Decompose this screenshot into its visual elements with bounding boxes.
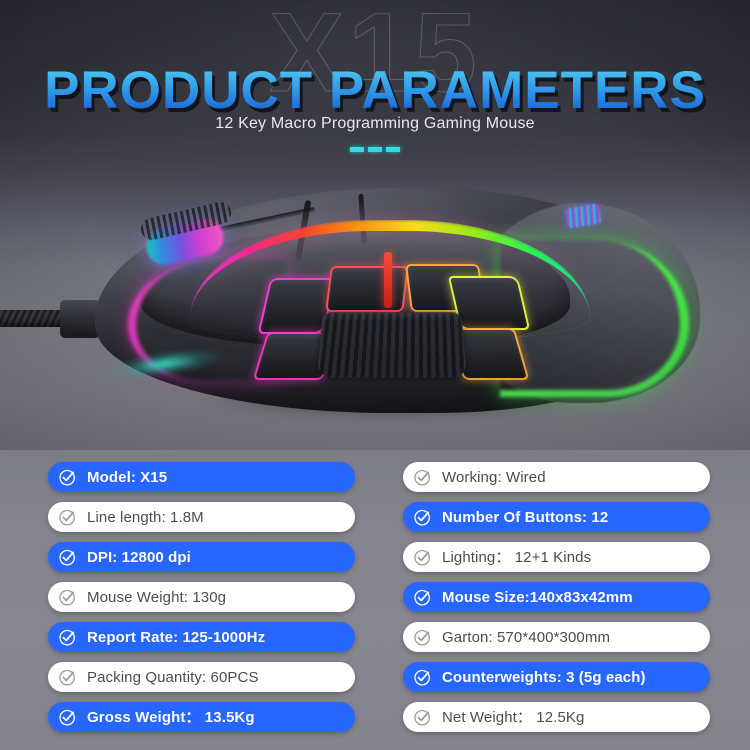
product-hero-section: X15 <box>0 0 750 450</box>
spec-pill-label: Net Weight： 12.5Kg <box>442 710 584 725</box>
spec-pill-label: Model: X15 <box>87 470 167 485</box>
spec-pill-right-6[interactable]: Net Weight： 12.5Kg <box>403 702 710 732</box>
check-circle-icon <box>57 627 78 648</box>
check-circle-icon <box>412 587 433 608</box>
spec-pill-left-4[interactable]: Report Rate: 125-1000Hz <box>48 622 355 652</box>
spec-pill-label: Lighting： 12+1 Kinds <box>442 550 591 565</box>
check-circle-icon <box>412 627 433 648</box>
check-circle-icon <box>412 707 433 728</box>
check-circle-icon <box>57 467 78 488</box>
spec-pill-right-5[interactable]: Counterweights: 3 (5g each) <box>403 662 710 692</box>
check-circle-icon <box>412 667 433 688</box>
spec-pill-right-2[interactable]: Lighting： 12+1 Kinds <box>403 542 710 572</box>
spec-pill-left-2[interactable]: DPI: 12800 dpi <box>48 542 355 572</box>
check-circle-icon <box>412 547 433 568</box>
specifications-grid: Model: X15Line length: 1.8MDPI: 12800 dp… <box>48 462 710 732</box>
spec-pill-label: Working: Wired <box>442 470 546 485</box>
spec-pill-label: Mouse Weight: 130g <box>87 590 226 605</box>
check-circle-icon <box>412 467 433 488</box>
check-circle-icon <box>57 587 78 608</box>
divider-dash <box>386 147 400 152</box>
specs-right-column: Working: WiredNumber Of Buttons: 12Light… <box>403 462 710 732</box>
three-dash-divider <box>0 147 750 152</box>
spec-pill-right-3[interactable]: Mouse Size:140x83x42mm <box>403 582 710 612</box>
divider-dash <box>350 147 364 152</box>
spec-pill-label: Gross Weight： 13.5Kg <box>87 710 255 725</box>
spec-pill-left-3[interactable]: Mouse Weight: 130g <box>48 582 355 612</box>
check-circle-icon <box>57 507 78 528</box>
spec-pill-left-5[interactable]: Packing Quantity: 60PCS <box>48 662 355 692</box>
spec-pill-label: Garton: 570*400*300mm <box>442 630 610 645</box>
page-title: PRODUCT PARAMETERS <box>0 60 750 121</box>
check-circle-icon <box>412 507 433 528</box>
spec-pill-left-1[interactable]: Line length: 1.8M <box>48 502 355 532</box>
spec-pill-right-0[interactable]: Working: Wired <box>403 462 710 492</box>
spec-pill-label: DPI: 12800 dpi <box>87 550 191 565</box>
spec-pill-left-0[interactable]: Model: X15 <box>48 462 355 492</box>
spec-pill-label: Line length: 1.8M <box>87 510 204 525</box>
spec-pill-label: Packing Quantity: 60PCS <box>87 670 259 685</box>
spec-pill-right-4[interactable]: Garton: 570*400*300mm <box>403 622 710 652</box>
check-circle-icon <box>57 707 78 728</box>
spec-pill-label: Report Rate: 125-1000Hz <box>87 630 265 645</box>
spec-pill-left-6[interactable]: Gross Weight： 13.5Kg <box>48 702 355 732</box>
spec-pill-label: Counterweights: 3 (5g each) <box>442 670 646 685</box>
product-parameters-page: X15 <box>0 0 750 750</box>
page-subtitle: 12 Key Macro Programming Gaming Mouse <box>0 115 750 133</box>
spec-pill-right-1[interactable]: Number Of Buttons: 12 <box>403 502 710 532</box>
spec-pill-label: Number Of Buttons: 12 <box>442 510 608 525</box>
check-circle-icon <box>57 667 78 688</box>
divider-dash <box>368 147 382 152</box>
specs-left-column: Model: X15Line length: 1.8MDPI: 12800 dp… <box>48 462 355 732</box>
spec-pill-label: Mouse Size:140x83x42mm <box>442 590 633 605</box>
check-circle-icon <box>57 547 78 568</box>
